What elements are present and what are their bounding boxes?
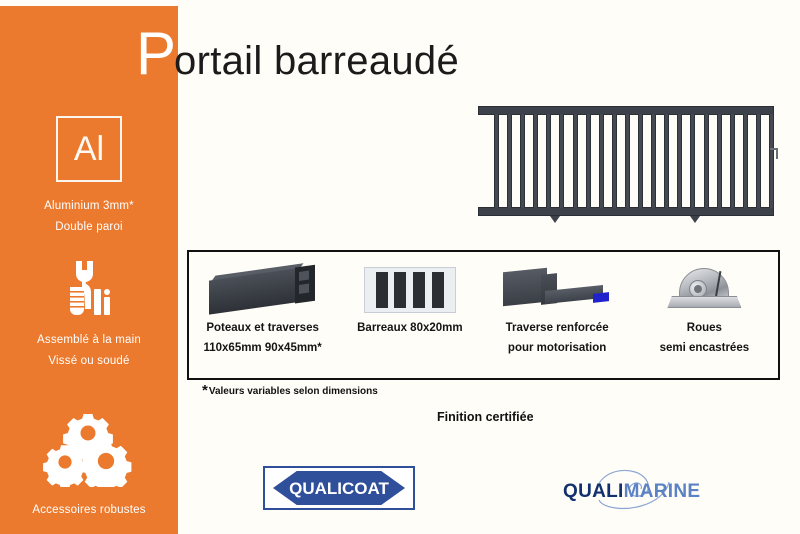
sidebar-feature-accessories-label-1: Accessoires robustes [0,500,178,521]
wheel-bearing-image [665,261,743,319]
sidebar-feature-aluminium: Al Aluminium 3mm* Double paroi [0,116,178,238]
gears-icon [0,414,178,486]
gate-bar [704,114,709,208]
product-item-barreaux-caption-1: Barreaux 80x20mm [357,319,463,338]
product-components-box: Poteaux et traverses 110x65mm 90x45mm* B… [187,250,780,380]
gate-bar [690,114,695,208]
gate-bar [546,114,551,208]
gate-bar [494,114,499,208]
product-item-poteaux-caption-2: 110x65mm 90x45mm* [203,339,321,358]
poster-root: Al Aluminium 3mm* Double paroi [0,0,800,534]
aluminium-al-icon: Al [56,116,122,182]
gate-bar [586,114,591,208]
sliding-gate-illustration [466,100,786,222]
bars-swatch-image [364,261,456,319]
certified-finish-label: Finition certifiée [437,410,534,424]
sidebar-feature-accessories: Accessoires robustes [0,414,178,521]
gate-bar [651,114,656,208]
qualicoat-diamond-shape: QUALICOAT [273,471,405,505]
qualimarine-text-marine: MARINE [624,481,701,502]
product-item-roues-caption-1: Roues [687,319,722,338]
reinforced-crossbar-image [501,261,613,319]
footnote: *Valeurs variables selon dimensions [202,382,378,399]
product-item-barreaux: Barreaux 80x20mm [336,252,483,378]
footnote-text: Valeurs variables selon dimensions [209,386,378,397]
gate-bar [743,114,748,208]
gate-bar [599,114,604,208]
product-item-poteaux-caption-1: Poteaux et traverses [206,319,319,338]
product-item-roues: Roues semi encastrées [631,252,778,378]
sidebar-feature-assembly-label-1: Assemblé à la main [0,330,178,351]
gate-bar [559,114,564,208]
gate-bar [730,114,735,208]
qualicoat-logo-text: QUALICOAT [289,480,389,497]
gate-bar [520,114,525,208]
page-title-text: ortail barreaudé [174,41,459,81]
gate-bar [507,114,512,208]
qualimarine-logo-text: QUALIMARINE [563,482,700,501]
product-item-traverse-caption-1: Traverse renforcée [506,319,609,338]
gate-bar [573,114,578,208]
gate-bar [625,114,630,208]
gate-bar [677,114,682,208]
page-title-initial: P [136,24,175,84]
qualimarine-logo: QUALIMARINE [555,466,730,514]
sidebar-feature-aluminium-label-2: Double paroi [0,217,178,238]
qualicoat-logo: QUALICOAT [263,466,415,510]
page-title: P ortail barreaudé [136,24,459,86]
product-item-traverse-caption-2: pour motorisation [508,339,606,358]
qualimarine-text-quali: QUALI [563,481,624,502]
gate-bar [769,114,774,208]
product-item-traverse: Traverse renforcée pour motorisation [484,252,631,378]
gate-bar [612,114,617,208]
footnote-asterisk: * [202,382,208,399]
gate-bar [756,114,761,208]
aluminium-post-profile-image [209,261,317,319]
sidebar-feature-assembly-label-2: Vissé ou soudé [0,351,178,372]
product-item-poteaux: Poteaux et traverses 110x65mm 90x45mm* [189,252,336,378]
hand-wrench-icon [0,258,178,320]
gate-bar [533,114,538,208]
gate-bar [638,114,643,208]
sidebar-feature-aluminium-label-1: Aluminium 3mm* [0,196,178,217]
product-item-roues-caption-2: semi encastrées [660,339,750,358]
gate-bar [717,114,722,208]
gate-bar [664,114,669,208]
al-symbol-text: Al [74,132,104,166]
sidebar-feature-assembly: Assemblé à la main Vissé ou soudé [0,258,178,372]
